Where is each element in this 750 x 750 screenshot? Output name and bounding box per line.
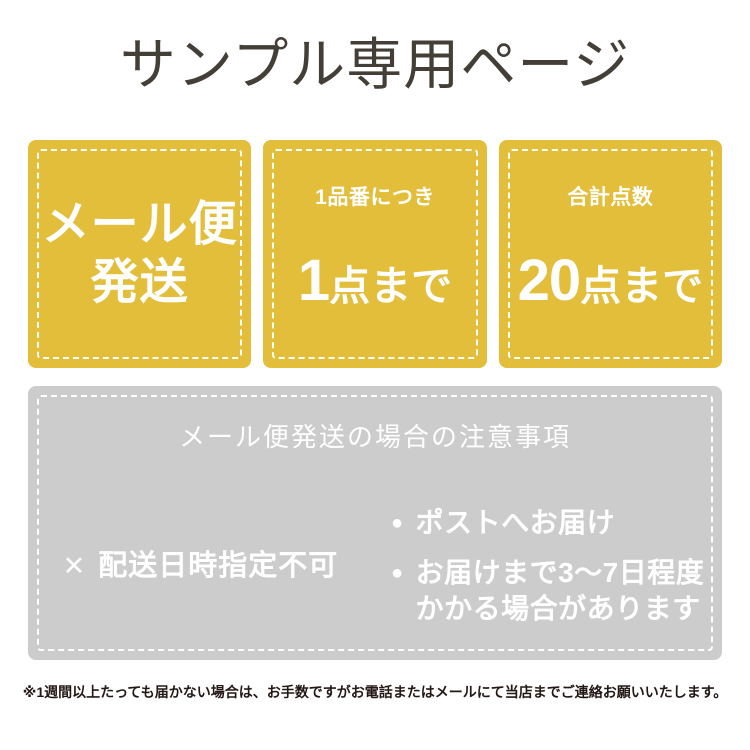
bullet-icon: ● (391, 555, 404, 591)
notice-panel: メール便発送の場合の注意事項 ✕ 配送日時指定不可 ● ポストへお届け ● お届… (28, 386, 722, 660)
notice-item-list: ● ポストへお届け ● お届けまで3〜7日程度 かかる場合があります (373, 505, 722, 627)
bullet-icon: ● (391, 505, 404, 541)
notice-list-item-line-1: ポストへお届け (416, 507, 616, 538)
cross-icon: ✕ (63, 547, 87, 585)
notice-list-item-text: ポストへお届け (416, 505, 616, 541)
notice-list-item-text: お届けまで3〜7日程度 かかる場合があります (416, 555, 705, 627)
feature-box-shipping-method: メール便 発送 (28, 140, 251, 368)
total-limit-unit: 点まで (580, 263, 703, 309)
notice-list-item: ● ポストへお届け (391, 505, 722, 541)
notice-panel-heading: メール便発送の場合の注意事項 (28, 421, 722, 453)
notice-restriction: ✕ 配送日時指定不可 (28, 547, 373, 585)
per-item-limit-unit: 点まで (329, 263, 452, 309)
feature-box-per-item-limit: 1品番につき 1点まで (263, 140, 486, 368)
total-limit-value: 20点まで (499, 253, 722, 324)
page-root: サンプル専用ページ メール便 発送 1品番につき 1点まで 合計点数 (0, 0, 750, 750)
feature-box-row: メール便 発送 1品番につき 1点まで 合計点数 20点まで (28, 140, 722, 368)
page-title: サンプル専用ページ (0, 34, 750, 96)
notice-panel-body: ✕ 配送日時指定不可 ● ポストへお届け ● お届けまで3〜7日程度 かかる場合… (28, 486, 722, 646)
feature-box-total-limit: 合計点数 20点まで (499, 140, 722, 368)
feature-box-content: 合計点数 20点まで (499, 185, 722, 324)
notice-list-item: ● お届けまで3〜7日程度 かかる場合があります (391, 555, 722, 627)
per-item-limit-value: 1点まで (263, 253, 486, 324)
feature-box-content: 1品番につき 1点まで (263, 185, 486, 324)
shipping-method-line-1: メール便 (28, 196, 251, 254)
footer-note: ※1週間以上たっても届かない場合は、お手数ですがお電話またはメールにて当店までご… (0, 682, 750, 702)
feature-box-content: メール便 発送 (28, 196, 251, 312)
notice-list-item-line-2: かかる場合があります (416, 591, 705, 627)
total-limit-number: 20 (518, 248, 581, 313)
total-limit-caption: 合計点数 (499, 185, 722, 211)
shipping-method-line-2: 発送 (28, 254, 251, 312)
per-item-limit-number: 1 (298, 248, 329, 313)
notice-list-item-line-1: お届けまで3〜7日程度 (416, 557, 705, 588)
notice-restriction-label: 配送日時指定不可 (98, 547, 338, 585)
per-item-limit-caption: 1品番につき (263, 185, 486, 211)
